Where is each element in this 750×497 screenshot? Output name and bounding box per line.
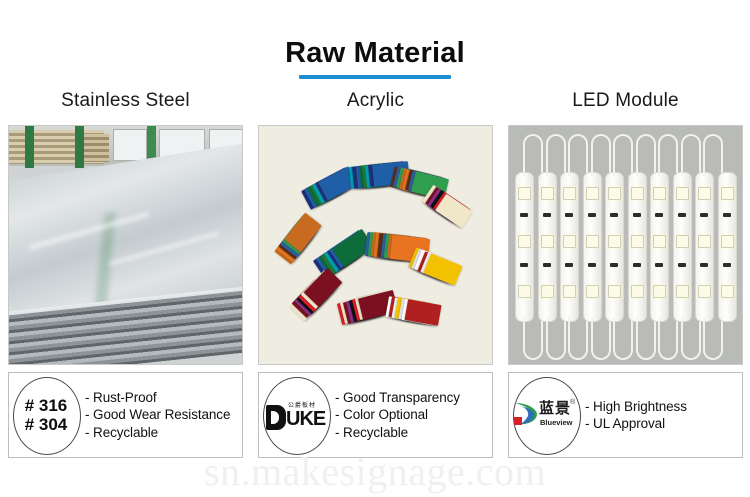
module-marking — [655, 263, 663, 267]
duke-logo-d-mark — [266, 405, 286, 430]
connecting-wire — [591, 318, 611, 360]
module-marking — [543, 213, 551, 217]
led-chip — [676, 235, 689, 248]
led-module — [695, 172, 714, 322]
led-module — [673, 172, 692, 322]
led-chip — [586, 285, 599, 298]
led-chip — [586, 187, 599, 200]
led-chip — [541, 235, 554, 248]
led-chip — [608, 235, 621, 248]
column-heading-acrylic: Acrylic — [258, 88, 493, 114]
led-chip — [518, 235, 531, 248]
led-module — [605, 172, 624, 322]
module-marking — [520, 213, 528, 217]
connecting-wire — [703, 318, 723, 360]
module-marking — [723, 263, 731, 267]
blueview-brand-badge: 蓝景 Blueview ® — [509, 375, 583, 455]
connecting-wire — [546, 318, 566, 360]
steel-grade-304: # 304 — [25, 415, 68, 434]
connecting-wire — [523, 134, 543, 176]
led-chip — [563, 235, 576, 248]
led-chip — [541, 187, 554, 200]
module-marking — [678, 263, 686, 267]
led-chip — [608, 187, 621, 200]
warehouse-window — [113, 129, 147, 161]
connecting-wire — [568, 134, 588, 176]
connecting-wire — [681, 134, 701, 176]
led-chip — [721, 285, 734, 298]
led-chip — [631, 187, 644, 200]
module-marking — [633, 263, 641, 267]
module-marking — [723, 213, 731, 217]
module-marking — [610, 263, 618, 267]
raw-material-infographic: Raw Material Stainless Steel Acrylic LED… — [0, 0, 750, 497]
steel-grade-badge: # 316 # 304 — [9, 375, 83, 455]
acrylic-color-samples-photo — [259, 126, 492, 364]
feature-item: - Recyclable — [85, 424, 242, 442]
connecting-wire — [523, 318, 543, 360]
connecting-wire — [636, 134, 656, 176]
connecting-wire — [658, 318, 678, 360]
module-marking — [588, 263, 596, 267]
led-chip — [676, 187, 689, 200]
led-module — [718, 172, 737, 322]
acrylic-sheet-sample — [423, 253, 462, 285]
photo-panel-acrylic — [258, 125, 493, 365]
led-chip — [721, 187, 734, 200]
registered-trademark-icon: ® — [570, 399, 575, 406]
photo-panel-stainless-steel — [8, 125, 243, 365]
module-marking — [610, 213, 618, 217]
column-headings: Stainless Steel Acrylic LED Module — [0, 88, 750, 116]
led-chip — [653, 235, 666, 248]
module-marking — [700, 263, 708, 267]
surface-highlight — [29, 211, 149, 250]
feature-item: - Color Optional — [335, 406, 492, 424]
feature-list-led-module: - High Brightness - UL Approval — [583, 398, 742, 433]
title-underline-rule — [299, 75, 451, 79]
stainless-steel-sheets-photo — [9, 126, 242, 364]
blueview-swoosh-icon — [513, 400, 539, 426]
column-heading-led-module: LED Module — [508, 88, 743, 114]
module-marking — [565, 263, 573, 267]
led-chip — [586, 235, 599, 248]
led-chip — [698, 235, 711, 248]
feature-item: - Good Transparency — [335, 389, 492, 407]
blueview-logo-wordmark: Blueview — [540, 418, 573, 427]
led-chip — [518, 187, 531, 200]
green-pillar — [75, 126, 84, 168]
connecting-wire — [613, 318, 633, 360]
led-chip — [676, 285, 689, 298]
led-chip — [518, 285, 531, 298]
connecting-wire — [568, 318, 588, 360]
surface-highlight — [109, 231, 219, 267]
feature-box-acrylic: 公爵板材 UKE - Good Transparency - Color Opt… — [258, 372, 493, 458]
led-chip — [721, 235, 734, 248]
led-chip — [631, 235, 644, 248]
photo-panel-led-module — [508, 125, 743, 365]
connecting-wire — [681, 318, 701, 360]
blueview-logo: 蓝景 Blueview ® — [513, 398, 579, 432]
module-marking — [700, 213, 708, 217]
module-marking — [565, 213, 573, 217]
acrylic-sheet-sample — [404, 299, 441, 326]
connecting-wire — [636, 318, 656, 360]
led-chip — [563, 187, 576, 200]
connecting-wire — [546, 134, 566, 176]
led-chip — [698, 187, 711, 200]
feature-item: - Recyclable — [335, 424, 492, 442]
led-chip — [541, 285, 554, 298]
steel-grade-316: # 316 — [25, 396, 68, 415]
duke-logo-wordmark: UKE — [286, 408, 325, 430]
module-marking — [588, 213, 596, 217]
led-module — [515, 172, 534, 322]
connecting-wire — [613, 134, 633, 176]
led-module — [560, 172, 579, 322]
duke-brand-badge: 公爵板材 UKE — [259, 375, 333, 455]
module-marking — [520, 263, 528, 267]
feature-item: - Good Wear Resistance — [85, 406, 242, 424]
column-heading-stainless-steel: Stainless Steel — [8, 88, 243, 114]
feature-item: - High Brightness — [585, 398, 742, 416]
green-pillar — [25, 126, 34, 168]
module-marking — [633, 213, 641, 217]
feature-item: - UL Approval — [585, 415, 742, 433]
page-header: Raw Material — [0, 36, 750, 79]
duke-logo: 公爵板材 UKE — [266, 400, 326, 430]
module-marking — [655, 213, 663, 217]
led-chip — [698, 285, 711, 298]
led-chip — [563, 285, 576, 298]
feature-list-stainless-steel: - Rust-Proof - Good Wear Resistance - Re… — [83, 389, 242, 442]
connecting-wire — [658, 134, 678, 176]
led-module — [538, 172, 557, 322]
blueview-logo-chinese-text: 蓝景 — [539, 400, 571, 417]
led-chip — [653, 285, 666, 298]
feature-list-acrylic: - Good Transparency - Color Optional - R… — [333, 389, 492, 442]
feature-box-stainless-steel: # 316 # 304 - Rust-Proof - Good Wear Res… — [8, 372, 243, 458]
led-chip — [653, 187, 666, 200]
connecting-wire — [703, 134, 723, 176]
feature-item: - Rust-Proof — [85, 389, 242, 407]
connecting-wire — [591, 134, 611, 176]
feature-box-led-module: 蓝景 Blueview ® - High Brightness - UL App… — [508, 372, 743, 458]
module-marking — [543, 263, 551, 267]
led-module — [650, 172, 669, 322]
led-modules-photo — [509, 126, 742, 364]
led-module — [583, 172, 602, 322]
led-chip — [608, 285, 621, 298]
module-marking — [678, 213, 686, 217]
led-module — [628, 172, 647, 322]
led-chip — [631, 285, 644, 298]
page-title: Raw Material — [0, 36, 750, 70]
